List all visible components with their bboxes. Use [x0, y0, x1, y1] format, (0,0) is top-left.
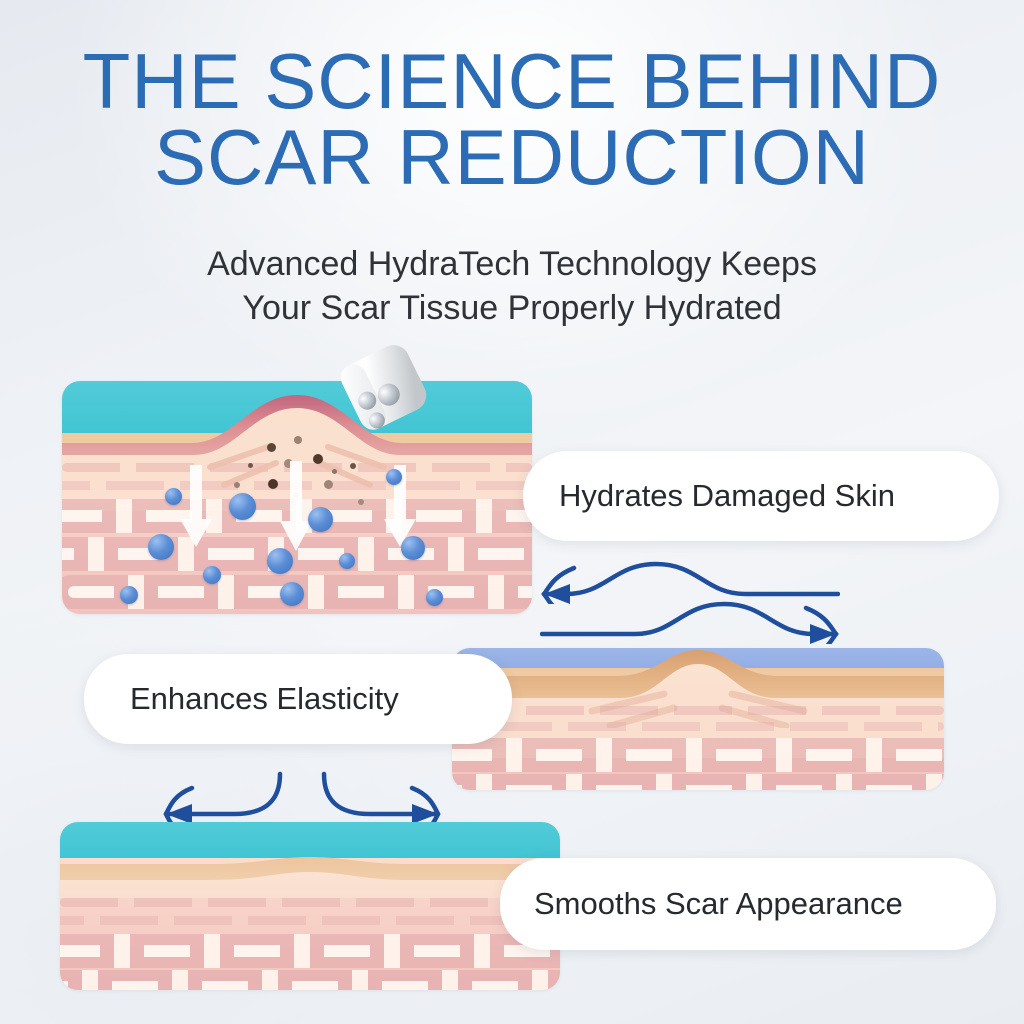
pigment-speck [350, 463, 356, 469]
hydration-droplet [165, 488, 182, 505]
title-line-2: SCAR REDUCTION [0, 120, 1024, 196]
pigment-speck [358, 499, 364, 505]
panel-raised-scar-treatment [62, 381, 532, 614]
feature-card-hydrates[interactable]: Hydrates Damaged Skin [523, 451, 999, 541]
pigment-speck [268, 479, 278, 489]
hydration-droplet [229, 493, 256, 520]
feature-card-label: Hydrates Damaged Skin [559, 478, 895, 514]
collagen-fiber-row [452, 722, 944, 731]
hydration-droplet [280, 582, 304, 606]
pigment-speck [234, 482, 240, 488]
panel-softening-scar [452, 648, 944, 790]
flat-skin-surface [60, 852, 560, 898]
hydration-droplet [401, 536, 425, 560]
hydration-droplet [267, 548, 293, 574]
panel-smoothed-skin [60, 822, 560, 990]
cell-row [452, 774, 944, 790]
hydration-droplet [339, 553, 355, 569]
collagen-fiber-row [60, 916, 560, 925]
pigment-speck [248, 463, 253, 468]
pigment-speck [332, 469, 337, 474]
subtitle-line-2: Your Scar Tissue Properly Hydrated [0, 287, 1024, 331]
hydration-droplet [120, 586, 138, 604]
hydration-droplet [386, 469, 402, 485]
absorption-arrow [278, 461, 314, 553]
flow-arrow-right-lower [540, 598, 850, 644]
cell-row [60, 934, 560, 968]
infographic-canvas: THE SCIENCE BEHIND SCAR REDUCTION Advanc… [0, 0, 1024, 1024]
pigment-speck [294, 436, 302, 444]
feature-card-smooths[interactable]: Smooths Scar Appearance [500, 858, 996, 950]
feature-card-label: Enhances Elasticity [130, 681, 399, 717]
title-line-1: THE SCIENCE BEHIND [83, 37, 942, 125]
roller-applicator-icon [336, 343, 438, 439]
cell-row [452, 738, 944, 772]
hydration-droplet [148, 534, 174, 560]
page-title: THE SCIENCE BEHIND SCAR REDUCTION [0, 44, 1024, 195]
absorption-arrow [178, 465, 214, 549]
hydration-droplet [308, 507, 333, 532]
feature-card-label: Smooths Scar Appearance [534, 886, 903, 922]
pigment-speck [313, 454, 323, 464]
subtitle-line-1: Advanced HydraTech Technology Keeps [207, 245, 817, 283]
pigment-speck [267, 443, 276, 452]
pigment-speck [324, 480, 333, 489]
collagen-fiber-row [452, 706, 944, 715]
hydration-droplet [203, 566, 221, 584]
page-subtitle: Advanced HydraTech Technology Keeps Your… [0, 243, 1024, 330]
hydration-droplet [426, 589, 443, 606]
scar-striations [452, 678, 944, 728]
collagen-fiber-row [60, 898, 560, 907]
cell-row [60, 970, 560, 990]
feature-card-elasticity[interactable]: Enhances Elasticity [84, 654, 512, 744]
